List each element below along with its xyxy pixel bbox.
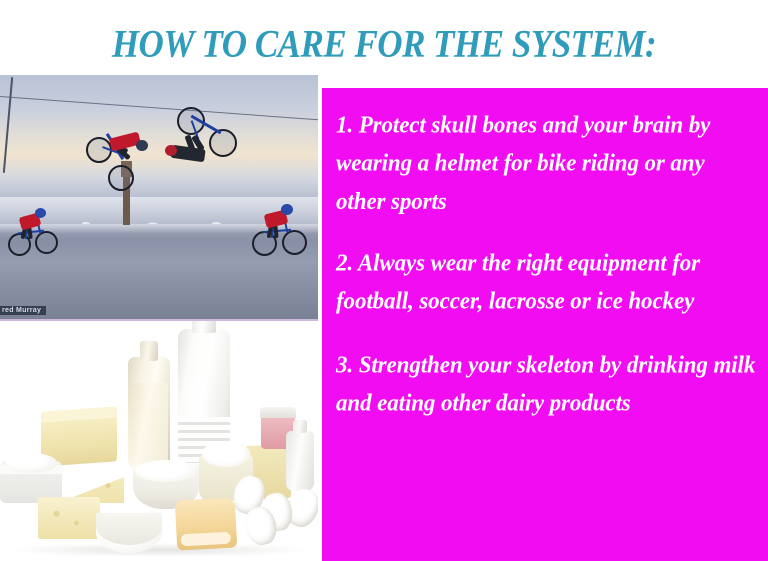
tips-panel: 1. Protect skull bones and your brain by…	[322, 88, 768, 561]
helmet-icon	[35, 208, 46, 218]
cyclist-midflip	[86, 127, 148, 187]
yogurt-surface	[135, 460, 197, 482]
bicycle-wheel	[209, 129, 237, 157]
page-title: HOW TO CARE FOR THE SYSTEM:	[0, 22, 768, 67]
cyclist-inverted	[163, 107, 233, 185]
round-soft-cheese	[96, 503, 162, 553]
bicycle-wheel	[35, 231, 58, 254]
bmx-backflip-photo: red Murray	[0, 75, 318, 321]
product-shadow	[10, 543, 310, 557]
cream-scoop	[5, 453, 57, 473]
tip-item-2: 2. Always wear the right equipment for f…	[336, 244, 756, 320]
cyclist-left	[8, 205, 56, 257]
helmet-icon	[136, 140, 148, 151]
milk-fill	[130, 383, 168, 465]
photo-credit-watermark: red Murray	[0, 306, 46, 315]
power-line	[0, 95, 318, 122]
tip-item-3: 3. Strengthen your skeleton by drinking …	[336, 346, 756, 422]
drink-bottle-small	[286, 431, 314, 491]
helmet-icon	[281, 204, 293, 215]
rider-leg	[273, 225, 278, 238]
cottage-cheese-heap	[202, 441, 250, 467]
swiss-cheese-slab	[38, 497, 100, 539]
bicycle-wheel	[282, 230, 307, 255]
dairy-products-photo	[0, 321, 318, 561]
utility-pole	[3, 77, 13, 173]
slide: HOW TO CARE FOR THE SYSTEM:	[0, 0, 768, 561]
milk-bottle-glass	[128, 357, 170, 469]
tip-item-1: 1. Protect skull bones and your brain by…	[336, 106, 756, 220]
butter-block	[175, 497, 238, 550]
cyclist-right	[252, 203, 304, 257]
helmet-icon	[165, 145, 177, 156]
bicycle-wheel	[108, 165, 134, 191]
